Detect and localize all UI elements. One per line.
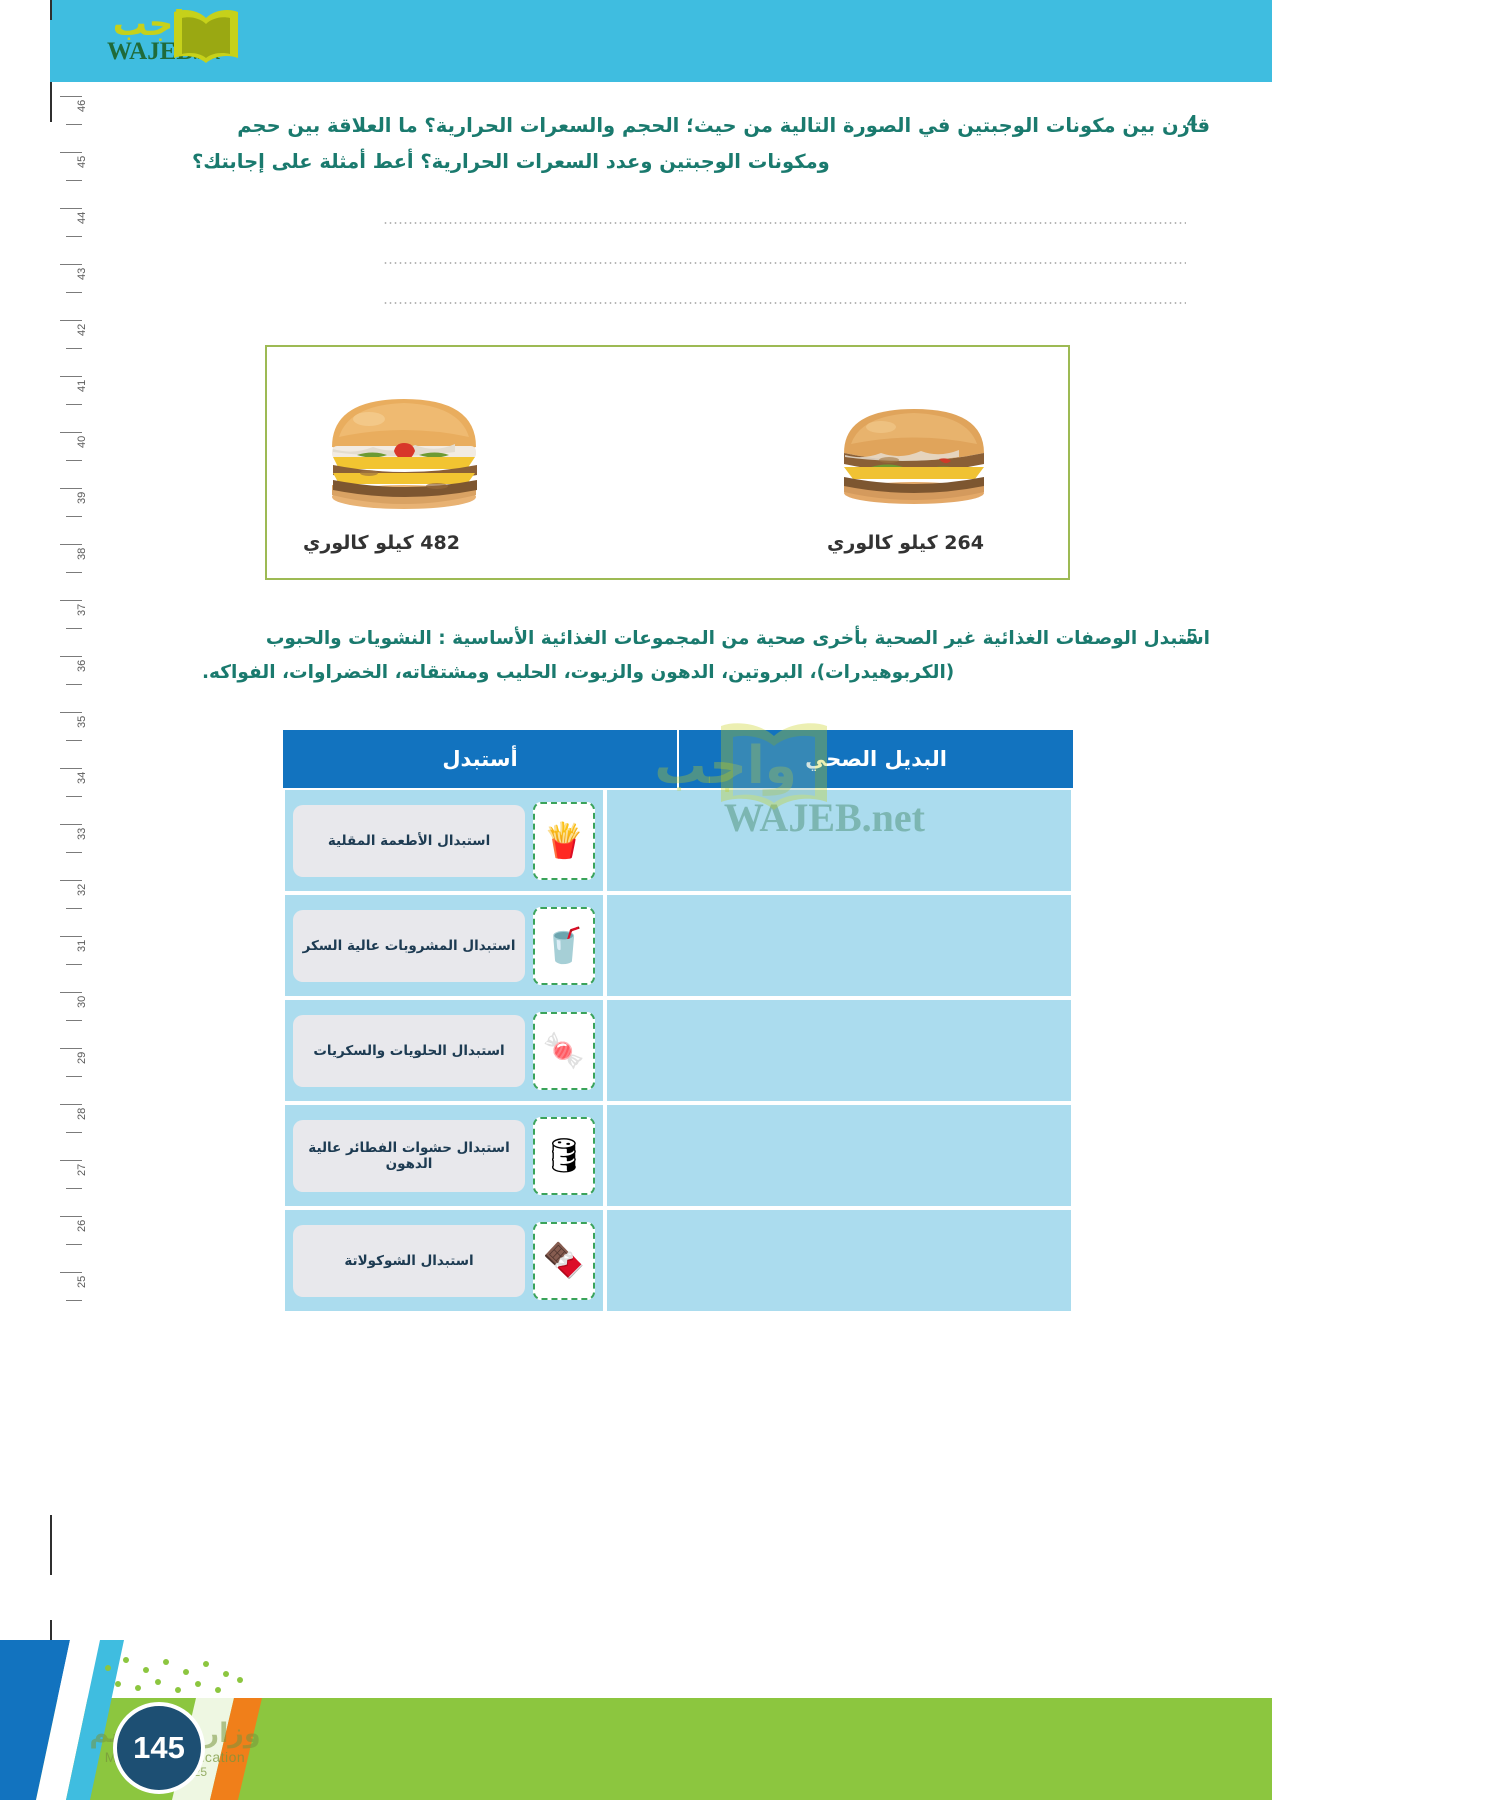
replace-item-label: استبدال الشوكولاتة — [293, 1225, 525, 1297]
ruler-tick — [60, 432, 82, 433]
single-burger-image — [819, 397, 1009, 509]
ruler-tick — [60, 656, 82, 657]
ruler-tick — [60, 600, 82, 601]
ruler-tick — [60, 992, 82, 993]
open-book-icon — [170, 6, 242, 68]
page-footer: وزارة التعليم Ministry of Education 2025… — [0, 1640, 1500, 1800]
thumb-glyph: 🥤 — [543, 929, 585, 963]
ruler-label: 35 — [76, 716, 88, 728]
replace-item-cell: 🍟استبدال الأطعمة المقلية — [283, 788, 605, 893]
ruler-tick-minor — [66, 684, 82, 685]
ruler-tick-minor — [66, 740, 82, 741]
table-header-healthy-alternative: البديل الصحي — [677, 730, 1073, 788]
ruler-label: 46 — [76, 100, 88, 112]
table-row: 🛢استبدال حشوات الفطائر عالية الدهون — [283, 1103, 1073, 1208]
question-4-text: قارن بين مكونات الوجبتين في الصورة التال… — [192, 108, 1210, 180]
ruler-label: 36 — [76, 660, 88, 672]
ruler-tick-minor — [66, 404, 82, 405]
table-header-replace: أستبدل — [283, 730, 677, 788]
ruler-tick — [60, 1272, 82, 1273]
question-5: 5. استبدل الوصفات الغذائية غير الصحية بأ… — [170, 622, 1210, 690]
ruler-tick — [60, 320, 82, 321]
ruler-tick-minor — [66, 852, 82, 853]
ruler-tick-minor — [66, 460, 82, 461]
ruler-tick — [60, 1048, 82, 1049]
oil-drop-icon: 🛢 — [533, 1117, 595, 1195]
ruler-tick-minor — [66, 292, 82, 293]
healthy-alternative-answer-cell[interactable] — [605, 788, 1073, 893]
question-4-number: 4. — [1182, 112, 1197, 133]
ruler-label: 40 — [76, 436, 88, 448]
replace-item-cell: 🥤استبدال المشروبات عالية السكر — [283, 893, 605, 998]
ruler-tick — [60, 544, 82, 545]
healthy-alternative-answer-cell[interactable] — [605, 893, 1073, 998]
sugary-drinks-icon: 🥤 — [533, 907, 595, 985]
question-5-line-1: استبدل الوصفات الغذائية غير الصحية بأخرى… — [266, 628, 1210, 649]
ruler-tick — [60, 376, 82, 377]
ruler-label: 30 — [76, 996, 88, 1008]
table-row: 🥤استبدال المشروبات عالية السكر — [283, 893, 1073, 998]
ruler-tick — [60, 264, 82, 265]
double-burger-calories: 482 كيلو كالوري — [303, 532, 460, 554]
answer-line-1[interactable] — [383, 222, 1186, 224]
ruler-label: 44 — [76, 212, 88, 224]
ruler-label: 31 — [76, 940, 88, 952]
ruler-tick — [60, 1216, 82, 1217]
ruler-tick-minor — [66, 964, 82, 965]
ruler-tick — [60, 1104, 82, 1105]
table-body: 🍟استبدال الأطعمة المقلية🥤استبدال المشروب… — [283, 788, 1073, 1313]
header-right-margin — [1272, 0, 1500, 82]
ruler-label: 39 — [76, 492, 88, 504]
thumb-glyph: 🍫 — [543, 1244, 585, 1278]
answer-line-3[interactable] — [383, 302, 1186, 304]
ruler-tick — [60, 880, 82, 881]
table-row: 🍫استبدال الشوكولاتة — [283, 1208, 1073, 1313]
ruler-tick-minor — [66, 124, 82, 125]
substitution-table: البديل الصحي أستبدل 🍟استبدال الأطعمة الم… — [283, 730, 1073, 1313]
ruler-tick — [60, 824, 82, 825]
ruler-tick-minor — [66, 1020, 82, 1021]
replace-item-label: استبدال الأطعمة المقلية — [293, 805, 525, 877]
ruler-tick — [60, 488, 82, 489]
table-header-row: البديل الصحي أستبدل — [283, 730, 1073, 788]
ruler-label: 27 — [76, 1164, 88, 1176]
ruler-label: 26 — [76, 1220, 88, 1232]
ruler-tick — [60, 712, 82, 713]
margin-ruler: 4645444342414039383736353433323130292827… — [52, 96, 118, 1326]
ruler-tick-minor — [66, 1132, 82, 1133]
thumb-glyph: 🍬 — [543, 1034, 585, 1068]
candy-sweets-icon: 🍬 — [533, 1012, 595, 1090]
single-burger-calories: 264 كيلو كالوري — [827, 532, 984, 554]
ruler-tick-minor — [66, 1300, 82, 1301]
replace-item-cell: 🍫استبدال الشوكولاتة — [283, 1208, 605, 1313]
ruler-tick-minor — [66, 628, 82, 629]
ruler-label: 25 — [76, 1276, 88, 1288]
spine-mark-lower — [50, 1515, 52, 1575]
ruler-tick-minor — [66, 908, 82, 909]
ruler-label: 37 — [76, 604, 88, 616]
burger-comparison-figure: 482 كيلو كالوري 264 كيلو كالوري — [265, 345, 1070, 580]
page-number-badge: 145 — [113, 1702, 205, 1794]
replace-item-label: استبدال الحلويات والسكريات — [293, 1015, 525, 1087]
ruler-tick-minor — [66, 572, 82, 573]
answer-line-2[interactable] — [383, 262, 1186, 264]
ruler-tick-minor — [66, 180, 82, 181]
ruler-label: 38 — [76, 548, 88, 560]
question-5-line-2: (الكربوهيدرات)، البروتين، الدهون والزيوت… — [202, 656, 1210, 690]
ruler-label: 29 — [76, 1052, 88, 1064]
ruler-tick — [60, 768, 82, 769]
ruler-label: 42 — [76, 324, 88, 336]
healthy-alternative-answer-cell[interactable] — [605, 998, 1073, 1103]
thumb-glyph: 🍟 — [543, 824, 585, 858]
ruler-label: 45 — [76, 156, 88, 168]
chocolate-bar-icon: 🍫 — [533, 1222, 595, 1300]
ruler-tick-minor — [66, 796, 82, 797]
header-bar: واجب WAJEB.net — [50, 0, 1272, 82]
ruler-tick-minor — [66, 516, 82, 517]
ruler-tick-minor — [66, 236, 82, 237]
ruler-tick — [60, 936, 82, 937]
double-burger-image — [309, 387, 499, 512]
replace-item-cell: 🍬استبدال الحلويات والسكريات — [283, 998, 605, 1103]
table-row: 🍬استبدال الحلويات والسكريات — [283, 998, 1073, 1103]
healthy-alternative-answer-cell[interactable] — [605, 1208, 1073, 1313]
ruler-tick-minor — [66, 1244, 82, 1245]
ruler-label: 34 — [76, 772, 88, 784]
fried-food-icon: 🍟 — [533, 802, 595, 880]
site-logo[interactable]: واجب WAJEB.net — [58, 2, 258, 80]
question-4: 4. قارن بين مكونات الوجبتين في الصورة ال… — [160, 108, 1210, 180]
ruler-tick — [60, 96, 82, 97]
ruler-tick-minor — [66, 348, 82, 349]
ruler-label: 41 — [76, 380, 88, 392]
ruler-label: 43 — [76, 268, 88, 280]
footer-right-margin — [1272, 1640, 1500, 1800]
healthy-alternative-answer-cell[interactable] — [605, 1103, 1073, 1208]
ruler-label: 32 — [76, 884, 88, 896]
thumb-glyph: 🛢 — [542, 1139, 585, 1173]
question-5-number: 5. — [1182, 626, 1197, 647]
ruler-label: 28 — [76, 1108, 88, 1120]
ruler-tick-minor — [66, 1076, 82, 1077]
ruler-tick — [60, 208, 82, 209]
table-row: 🍟استبدال الأطعمة المقلية — [283, 788, 1073, 893]
ruler-tick-minor — [66, 1188, 82, 1189]
workbook-page: واجب WAJEB.net 4645444342414039383736353… — [0, 0, 1500, 1800]
replace-item-label: استبدال المشروبات عالية السكر — [293, 910, 525, 982]
question-5-text: استبدل الوصفات الغذائية غير الصحية بأخرى… — [202, 622, 1210, 690]
ruler-label: 33 — [76, 828, 88, 840]
spine-mark-top — [50, 0, 52, 20]
question-4-line-2: ومكونات الوجبتين وعدد السعرات الحرارية؟ … — [192, 144, 1210, 180]
replace-item-cell: 🛢استبدال حشوات الفطائر عالية الدهون — [283, 1103, 605, 1208]
question-4-line-1: قارن بين مكونات الوجبتين في الصورة التال… — [237, 114, 1210, 137]
ruler-tick — [60, 152, 82, 153]
ruler-tick — [60, 1160, 82, 1161]
replace-item-label: استبدال حشوات الفطائر عالية الدهون — [293, 1120, 525, 1192]
